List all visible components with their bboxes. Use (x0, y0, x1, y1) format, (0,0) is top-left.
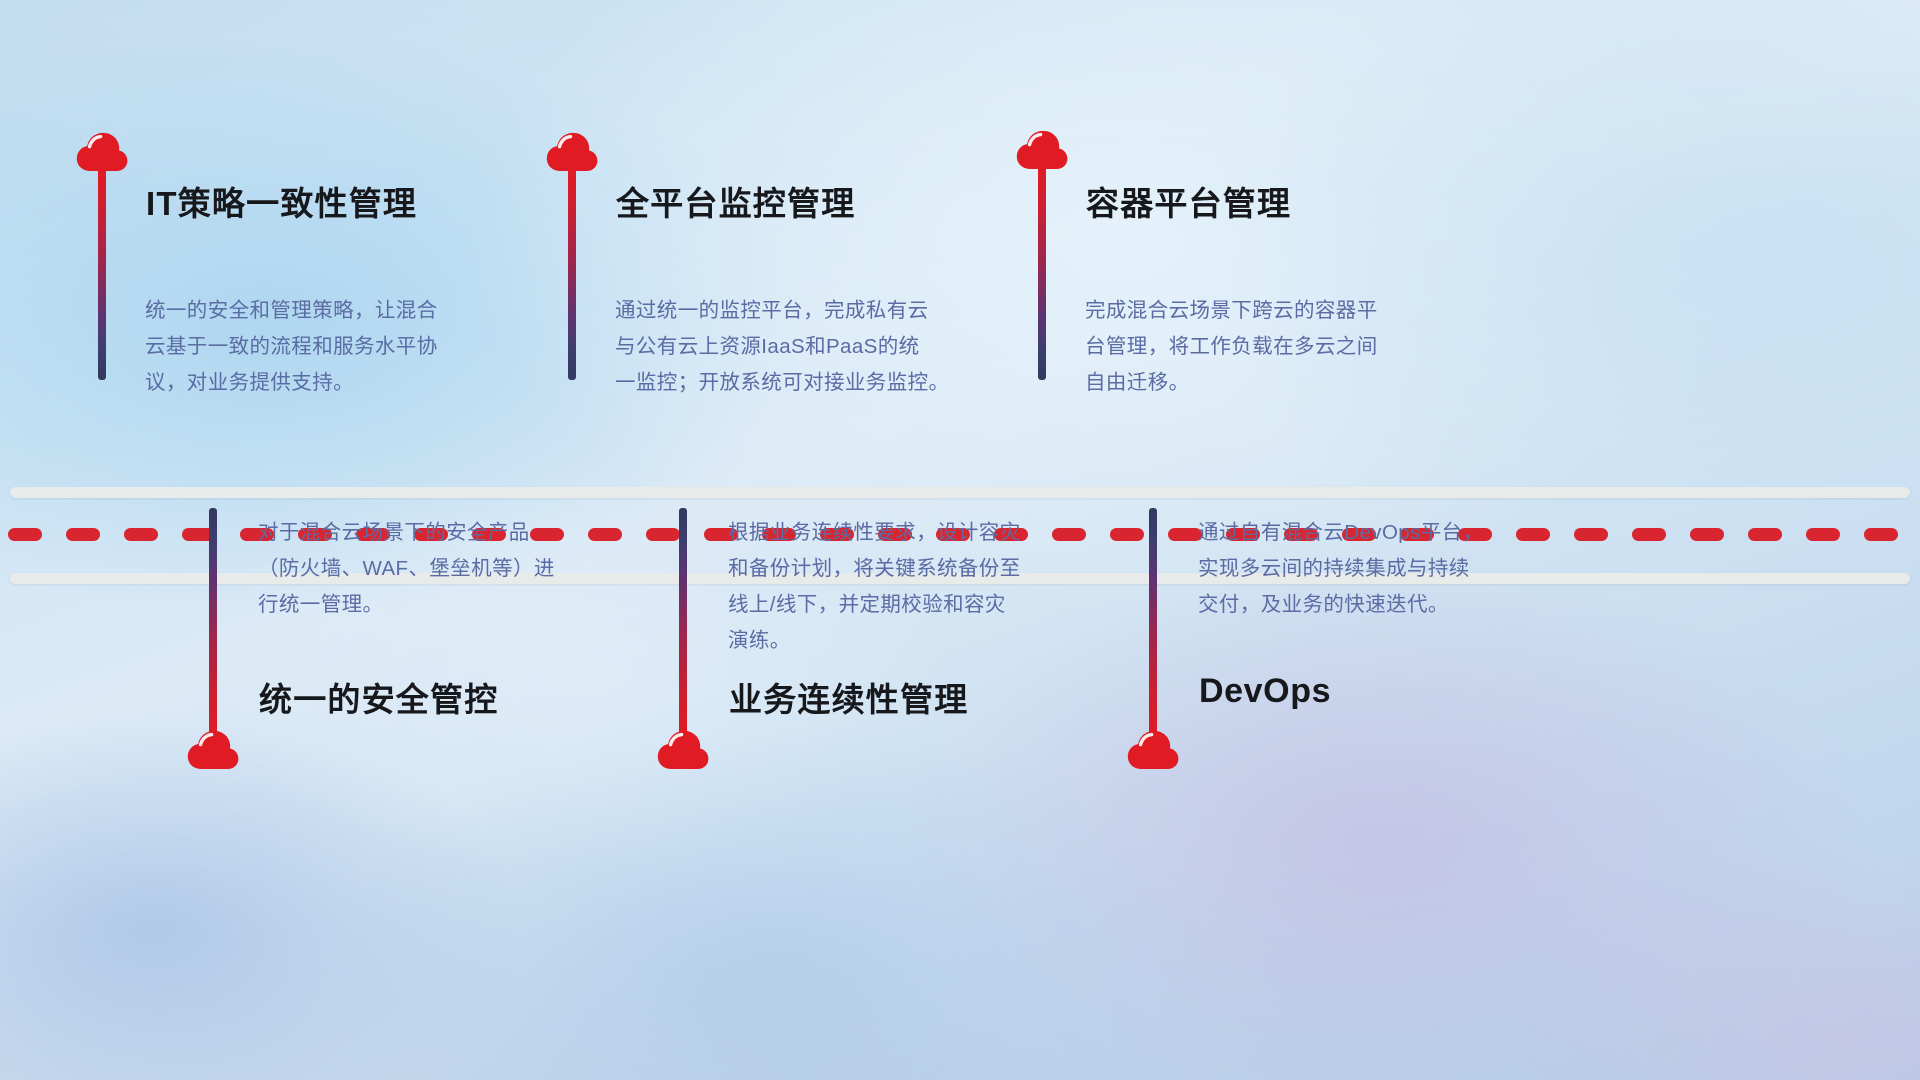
divider-dash (588, 528, 622, 541)
connector-line (679, 508, 687, 736)
feature-heading: IT策略一致性管理 (146, 177, 417, 225)
description-line: 自由迁移。 (1085, 365, 1378, 401)
divider-dash (1806, 528, 1840, 541)
description-line: 实现多云间的持续集成与持续 (1198, 551, 1483, 587)
feature-description: 根据业务连续性要求，设计容灾 和备份计划，将关键系统备份至 线上/线下，并定期校… (728, 515, 1021, 659)
feature-description: 通过自有混合云DevOps平台， 实现多云间的持续集成与持续 交付，及业务的快速… (1198, 515, 1483, 623)
description-line: 交付，及业务的快速迭代。 (1198, 587, 1483, 623)
divider-dash (1574, 528, 1608, 541)
description-line: 一监控；开放系统可对接业务监控。 (615, 365, 949, 401)
description-line: 云基于一致的流程和服务水平协 (145, 329, 438, 365)
description-line: 行统一管理。 (258, 587, 555, 623)
feature-description: 对于混合云场景下的安全产品 （防火墙、WAF、堡垒机等）进 行统一管理。 (258, 515, 555, 623)
cloud-icon (187, 730, 239, 770)
description-line: 和备份计划，将关键系统备份至 (728, 551, 1021, 587)
description-line: 统一的安全和管理策略，让混合 (145, 293, 438, 329)
connector-line (98, 168, 106, 380)
divider-dash (1864, 528, 1898, 541)
feature-heading: 业务连续性管理 (729, 673, 968, 721)
description-line: 根据业务连续性要求，设计容灾 (728, 515, 1021, 551)
feature-heading: 全平台监控管理 (616, 177, 855, 225)
feature-heading: 统一的安全管控 (259, 673, 498, 721)
feature-heading: 容器平台管理 (1086, 177, 1291, 225)
divider-dash (1110, 528, 1144, 541)
description-line: 议，对业务提供支持。 (145, 365, 438, 401)
feature-description: 统一的安全和管理策略，让混合 云基于一致的流程和服务水平协 议，对业务提供支持。 (145, 293, 438, 401)
connector-line (209, 508, 217, 736)
connector-line (1149, 508, 1157, 736)
divider-dash (1516, 528, 1550, 541)
cloud-icon (546, 132, 598, 172)
divider-bar-top (10, 487, 1910, 498)
divider-dash (1052, 528, 1086, 541)
description-line: 演练。 (728, 623, 1021, 659)
description-line: 与公有云上资源IaaS和PaaS的统 (615, 329, 949, 365)
divider-dash (66, 528, 100, 541)
infographic-canvas: IT策略一致性管理 统一的安全和管理策略，让混合 云基于一致的流程和服务水平协 … (0, 0, 1920, 1080)
divider-dash (1690, 528, 1724, 541)
connector-line (1038, 166, 1046, 380)
description-line: 线上/线下，并定期校验和容灾 (728, 587, 1021, 623)
divider-dash (1632, 528, 1666, 541)
feature-heading: DevOps (1199, 672, 1331, 711)
description-line: 完成混合云场景下跨云的容器平 (1085, 293, 1378, 329)
cloud-icon (1016, 130, 1068, 170)
feature-description: 通过统一的监控平台，完成私有云 与公有云上资源IaaS和PaaS的统 一监控；开… (615, 293, 949, 401)
divider-dash (1748, 528, 1782, 541)
description-line: 通过统一的监控平台，完成私有云 (615, 293, 949, 329)
connector-line (568, 168, 576, 380)
description-line: 对于混合云场景下的安全产品 (258, 515, 555, 551)
divider-dash (8, 528, 42, 541)
feature-description: 完成混合云场景下跨云的容器平 台管理，将工作负载在多云之间 自由迁移。 (1085, 293, 1378, 401)
divider-dash (1168, 528, 1202, 541)
divider-dash (124, 528, 158, 541)
description-line: （防火墙、WAF、堡垒机等）进 (258, 551, 555, 587)
divider-dash (646, 528, 680, 541)
description-line: 台管理，将工作负载在多云之间 (1085, 329, 1378, 365)
description-line: 通过自有混合云DevOps平台， (1198, 515, 1483, 551)
cloud-icon (76, 132, 128, 172)
cloud-icon (1127, 730, 1179, 770)
cloud-icon (657, 730, 709, 770)
